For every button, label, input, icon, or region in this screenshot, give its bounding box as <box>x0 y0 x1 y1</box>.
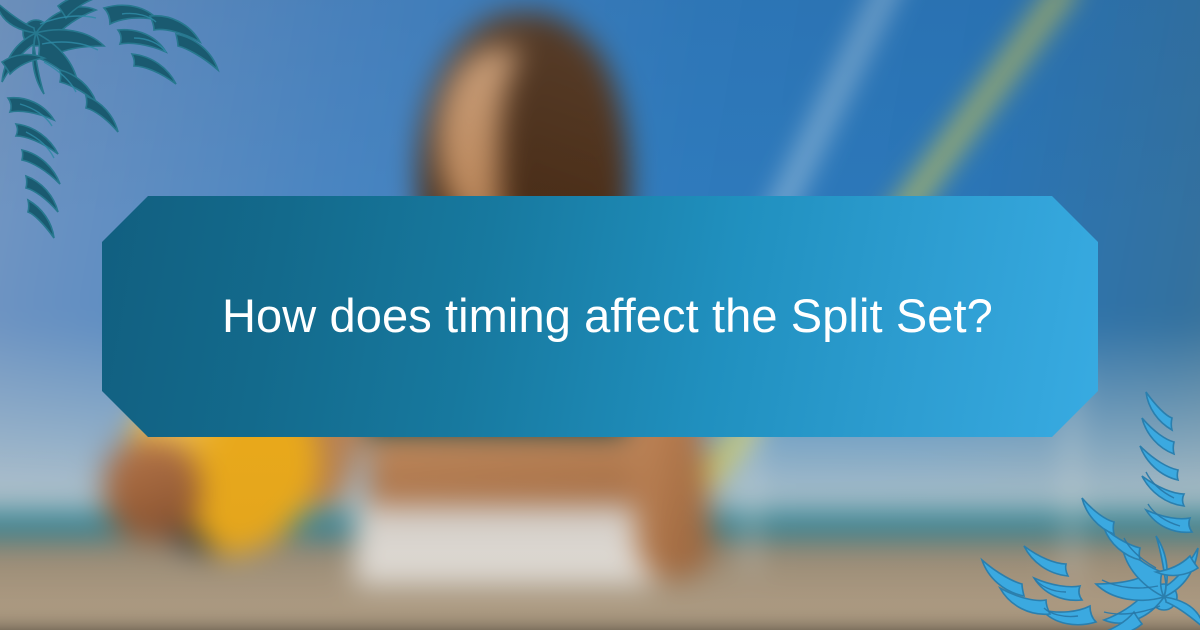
page-title: How does timing affect the Split Set? <box>222 289 993 343</box>
player-hand <box>105 440 200 540</box>
banner-canvas: How does timing affect the Split Set? <box>0 0 1200 630</box>
player-shorts <box>355 505 655 585</box>
title-banner: How does timing affect the Split Set? <box>102 196 1098 437</box>
